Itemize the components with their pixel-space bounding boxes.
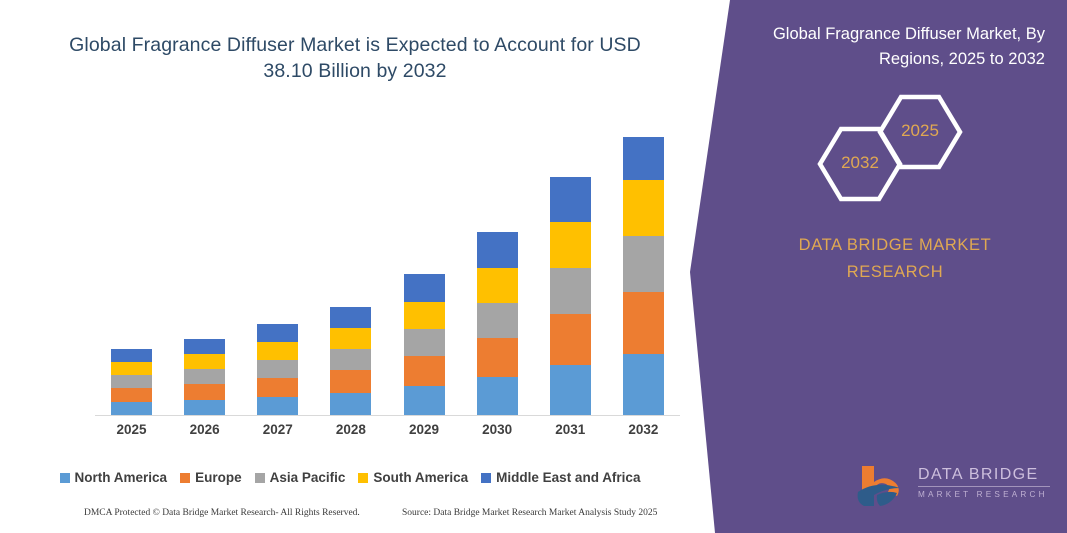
logo-divider: [918, 486, 1050, 487]
x-axis-label-2027: 2027: [241, 422, 314, 437]
bar-segment[interactable]: [623, 292, 664, 354]
x-axis-label-2025: 2025: [95, 422, 168, 437]
bar-segment[interactable]: [257, 324, 298, 342]
bar-group-2027[interactable]: [241, 324, 314, 416]
legend-swatch-icon: [60, 473, 70, 483]
bar-segment[interactable]: [550, 365, 591, 416]
legend-label: Europe: [195, 470, 242, 485]
bar-segment[interactable]: [111, 402, 152, 416]
bar-segment[interactable]: [330, 307, 371, 328]
panel-title: Global Fragrance Diffuser Market, By Reg…: [735, 22, 1045, 72]
bar-segment[interactable]: [184, 369, 225, 384]
bar-segment[interactable]: [550, 314, 591, 365]
bar-group-2030[interactable]: [461, 232, 534, 416]
legend-swatch-icon: [180, 473, 190, 483]
bar-segment[interactable]: [111, 362, 152, 375]
bar-chart-plot-area: [95, 110, 680, 416]
bar-segment[interactable]: [184, 339, 225, 354]
hexagon-badge-end: 2032: [817, 126, 903, 202]
x-axis-label-2026: 2026: [168, 422, 241, 437]
footer-dmca-text: DMCA Protected © Data Bridge Market Rese…: [84, 508, 360, 518]
bar-segment[interactable]: [477, 303, 518, 338]
bar-segment[interactable]: [330, 349, 371, 370]
bar-segment[interactable]: [184, 400, 225, 416]
bar-group-2029[interactable]: [388, 274, 461, 416]
bar-segment[interactable]: [550, 268, 591, 314]
bar-segment[interactable]: [257, 342, 298, 360]
bar-group-2025[interactable]: [95, 349, 168, 416]
x-axis-label-2032: 2032: [607, 422, 680, 437]
bar-segment[interactable]: [330, 370, 371, 393]
bar-segment[interactable]: [404, 386, 445, 416]
bar-segment[interactable]: [111, 375, 152, 388]
bar-segment[interactable]: [623, 137, 664, 180]
bar-segment[interactable]: [623, 236, 664, 292]
legend-item[interactable]: North America: [60, 470, 168, 485]
page-title: Global Fragrance Diffuser Market is Expe…: [60, 32, 650, 84]
legend-item[interactable]: Middle East and Africa: [481, 470, 640, 485]
x-axis-labels: 20252026202720282029203020312032: [95, 422, 680, 444]
bar-group-2031[interactable]: [534, 177, 607, 416]
brand-panel: Global Fragrance Diffuser Market, By Reg…: [687, 0, 1067, 533]
logo-b-monogram-icon: [852, 462, 912, 512]
bar-segment[interactable]: [477, 338, 518, 377]
bar-segment[interactable]: [111, 349, 152, 362]
bar-segment[interactable]: [330, 393, 371, 416]
hexagon-year-badges: 2025 2032: [805, 88, 965, 198]
bar-group-2028[interactable]: [314, 307, 387, 416]
bar-segment[interactable]: [477, 268, 518, 303]
bar-segment[interactable]: [477, 232, 518, 268]
x-axis-label-2030: 2030: [461, 422, 534, 437]
legend-swatch-icon: [481, 473, 491, 483]
bar-segment[interactable]: [257, 378, 298, 397]
legend-label: South America: [373, 470, 468, 485]
logo-name-text: DATA BRIDGE: [918, 466, 1052, 484]
hexagon-badge-end-label: 2032: [817, 153, 903, 173]
legend-item[interactable]: Asia Pacific: [255, 470, 346, 485]
bar-segment[interactable]: [111, 388, 152, 402]
x-axis-label-2031: 2031: [534, 422, 607, 437]
brand-name: DATA BRIDGE MARKET RESEARCH: [765, 232, 1025, 286]
legend-label: Middle East and Africa: [496, 470, 640, 485]
bar-segment[interactable]: [477, 377, 518, 416]
footer: DMCA Protected © Data Bridge Market Rese…: [0, 506, 700, 526]
bar-segment[interactable]: [550, 177, 591, 222]
bar-segment[interactable]: [404, 274, 445, 302]
infographic-page: Global Fragrance Diffuser Market is Expe…: [0, 0, 1067, 533]
bar-segment[interactable]: [623, 180, 664, 236]
x-axis-label-2028: 2028: [314, 422, 387, 437]
bar-segment[interactable]: [257, 360, 298, 378]
chart-baseline: [95, 415, 680, 416]
logo-wordmark: DATA BRIDGE MARKET RESEARCH: [918, 466, 1052, 499]
legend-label: Asia Pacific: [270, 470, 346, 485]
bar-segment[interactable]: [330, 328, 371, 349]
chart-panel: Global Fragrance Diffuser Market is Expe…: [0, 0, 700, 533]
bar-group-2026[interactable]: [168, 339, 241, 416]
bar-segment[interactable]: [623, 354, 664, 416]
logo-subtitle-text: MARKET RESEARCH: [918, 490, 1052, 499]
bar-segment[interactable]: [404, 329, 445, 356]
bar-group-2032[interactable]: [607, 137, 680, 416]
chart-legend: North AmericaEuropeAsia PacificSouth Ame…: [0, 470, 700, 485]
bar-segment[interactable]: [550, 222, 591, 268]
x-axis-label-2029: 2029: [388, 422, 461, 437]
bar-segment[interactable]: [404, 356, 445, 386]
bar-segment[interactable]: [184, 354, 225, 369]
bar-segment[interactable]: [184, 384, 225, 400]
company-logo: DATA BRIDGE MARKET RESEARCH: [852, 462, 1052, 514]
legend-item[interactable]: Europe: [180, 470, 242, 485]
bar-segment[interactable]: [257, 397, 298, 416]
legend-swatch-icon: [358, 473, 368, 483]
legend-swatch-icon: [255, 473, 265, 483]
legend-label: North America: [75, 470, 168, 485]
footer-source-text: Source: Data Bridge Market Research Mark…: [402, 508, 657, 518]
bar-segment[interactable]: [404, 302, 445, 329]
legend-item[interactable]: South America: [358, 470, 468, 485]
